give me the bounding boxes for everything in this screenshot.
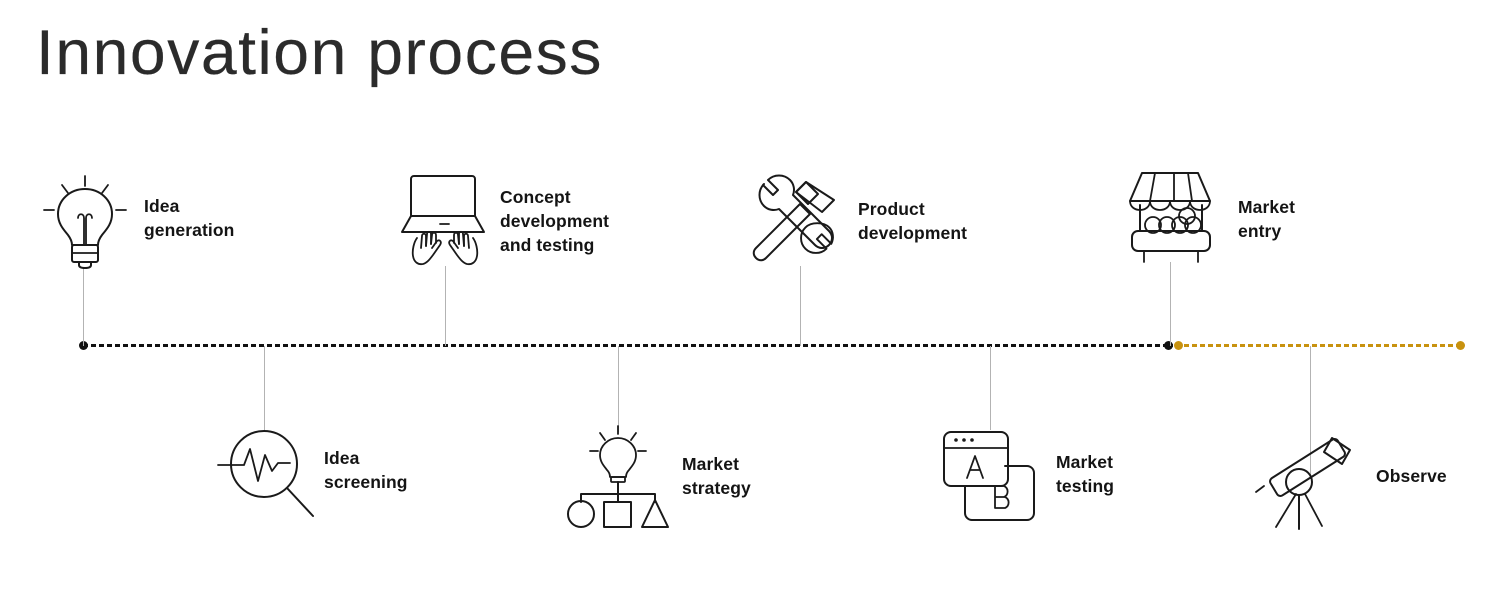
milestone-label: Market entry <box>1238 195 1295 243</box>
page-title: Innovation process <box>36 22 603 85</box>
wrench-hammer-icon <box>748 170 844 266</box>
slide-canvas: Innovation process <box>0 0 1500 600</box>
lightbulb-icon <box>36 172 134 268</box>
timeline-segment-gold <box>1176 344 1464 347</box>
milestone-label: Idea screening <box>324 446 408 494</box>
market-stall-icon <box>1122 165 1222 265</box>
magnifier-pulse-icon <box>214 424 318 520</box>
stem-market-strategy <box>618 346 619 432</box>
milestone-observe[interactable]: Observe <box>1252 430 1447 530</box>
milestone-market-strategy[interactable]: Market strategy <box>566 424 751 528</box>
telescope-icon <box>1252 430 1362 530</box>
milestone-idea-generation[interactable]: Idea generation <box>36 172 234 268</box>
timeline-node-end[interactable] <box>1456 341 1465 350</box>
milestone-market-testing[interactable]: Market testing <box>940 428 1114 524</box>
milestone-concept-development[interactable]: Concept development and testing <box>400 170 609 266</box>
milestone-label: Product development <box>858 197 967 245</box>
stem-idea-screening <box>264 346 265 430</box>
stem-market-testing <box>990 346 991 430</box>
timeline-segment-dark <box>83 344 1173 347</box>
lightbulb-shapes-icon <box>566 424 670 528</box>
milestone-market-entry[interactable]: Market entry <box>1122 165 1295 265</box>
ab-test-windows-icon <box>940 428 1044 524</box>
milestone-product-development[interactable]: Product development <box>748 170 967 266</box>
milestone-label: Concept development and testing <box>500 185 609 257</box>
stem-market-entry <box>1170 262 1171 346</box>
stem-concept-development <box>445 266 446 346</box>
timeline-node-transition[interactable] <box>1164 341 1173 350</box>
timeline-node-gold-start[interactable] <box>1174 341 1183 350</box>
milestone-label: Idea generation <box>144 194 234 242</box>
stem-idea-generation <box>83 268 84 346</box>
milestone-label: Observe <box>1376 464 1447 488</box>
milestone-label: Market testing <box>1056 450 1114 498</box>
laptop-hands-icon <box>400 170 490 266</box>
stem-product-development <box>800 266 801 346</box>
milestone-label: Market strategy <box>682 452 751 500</box>
milestone-idea-screening[interactable]: Idea screening <box>214 424 408 520</box>
